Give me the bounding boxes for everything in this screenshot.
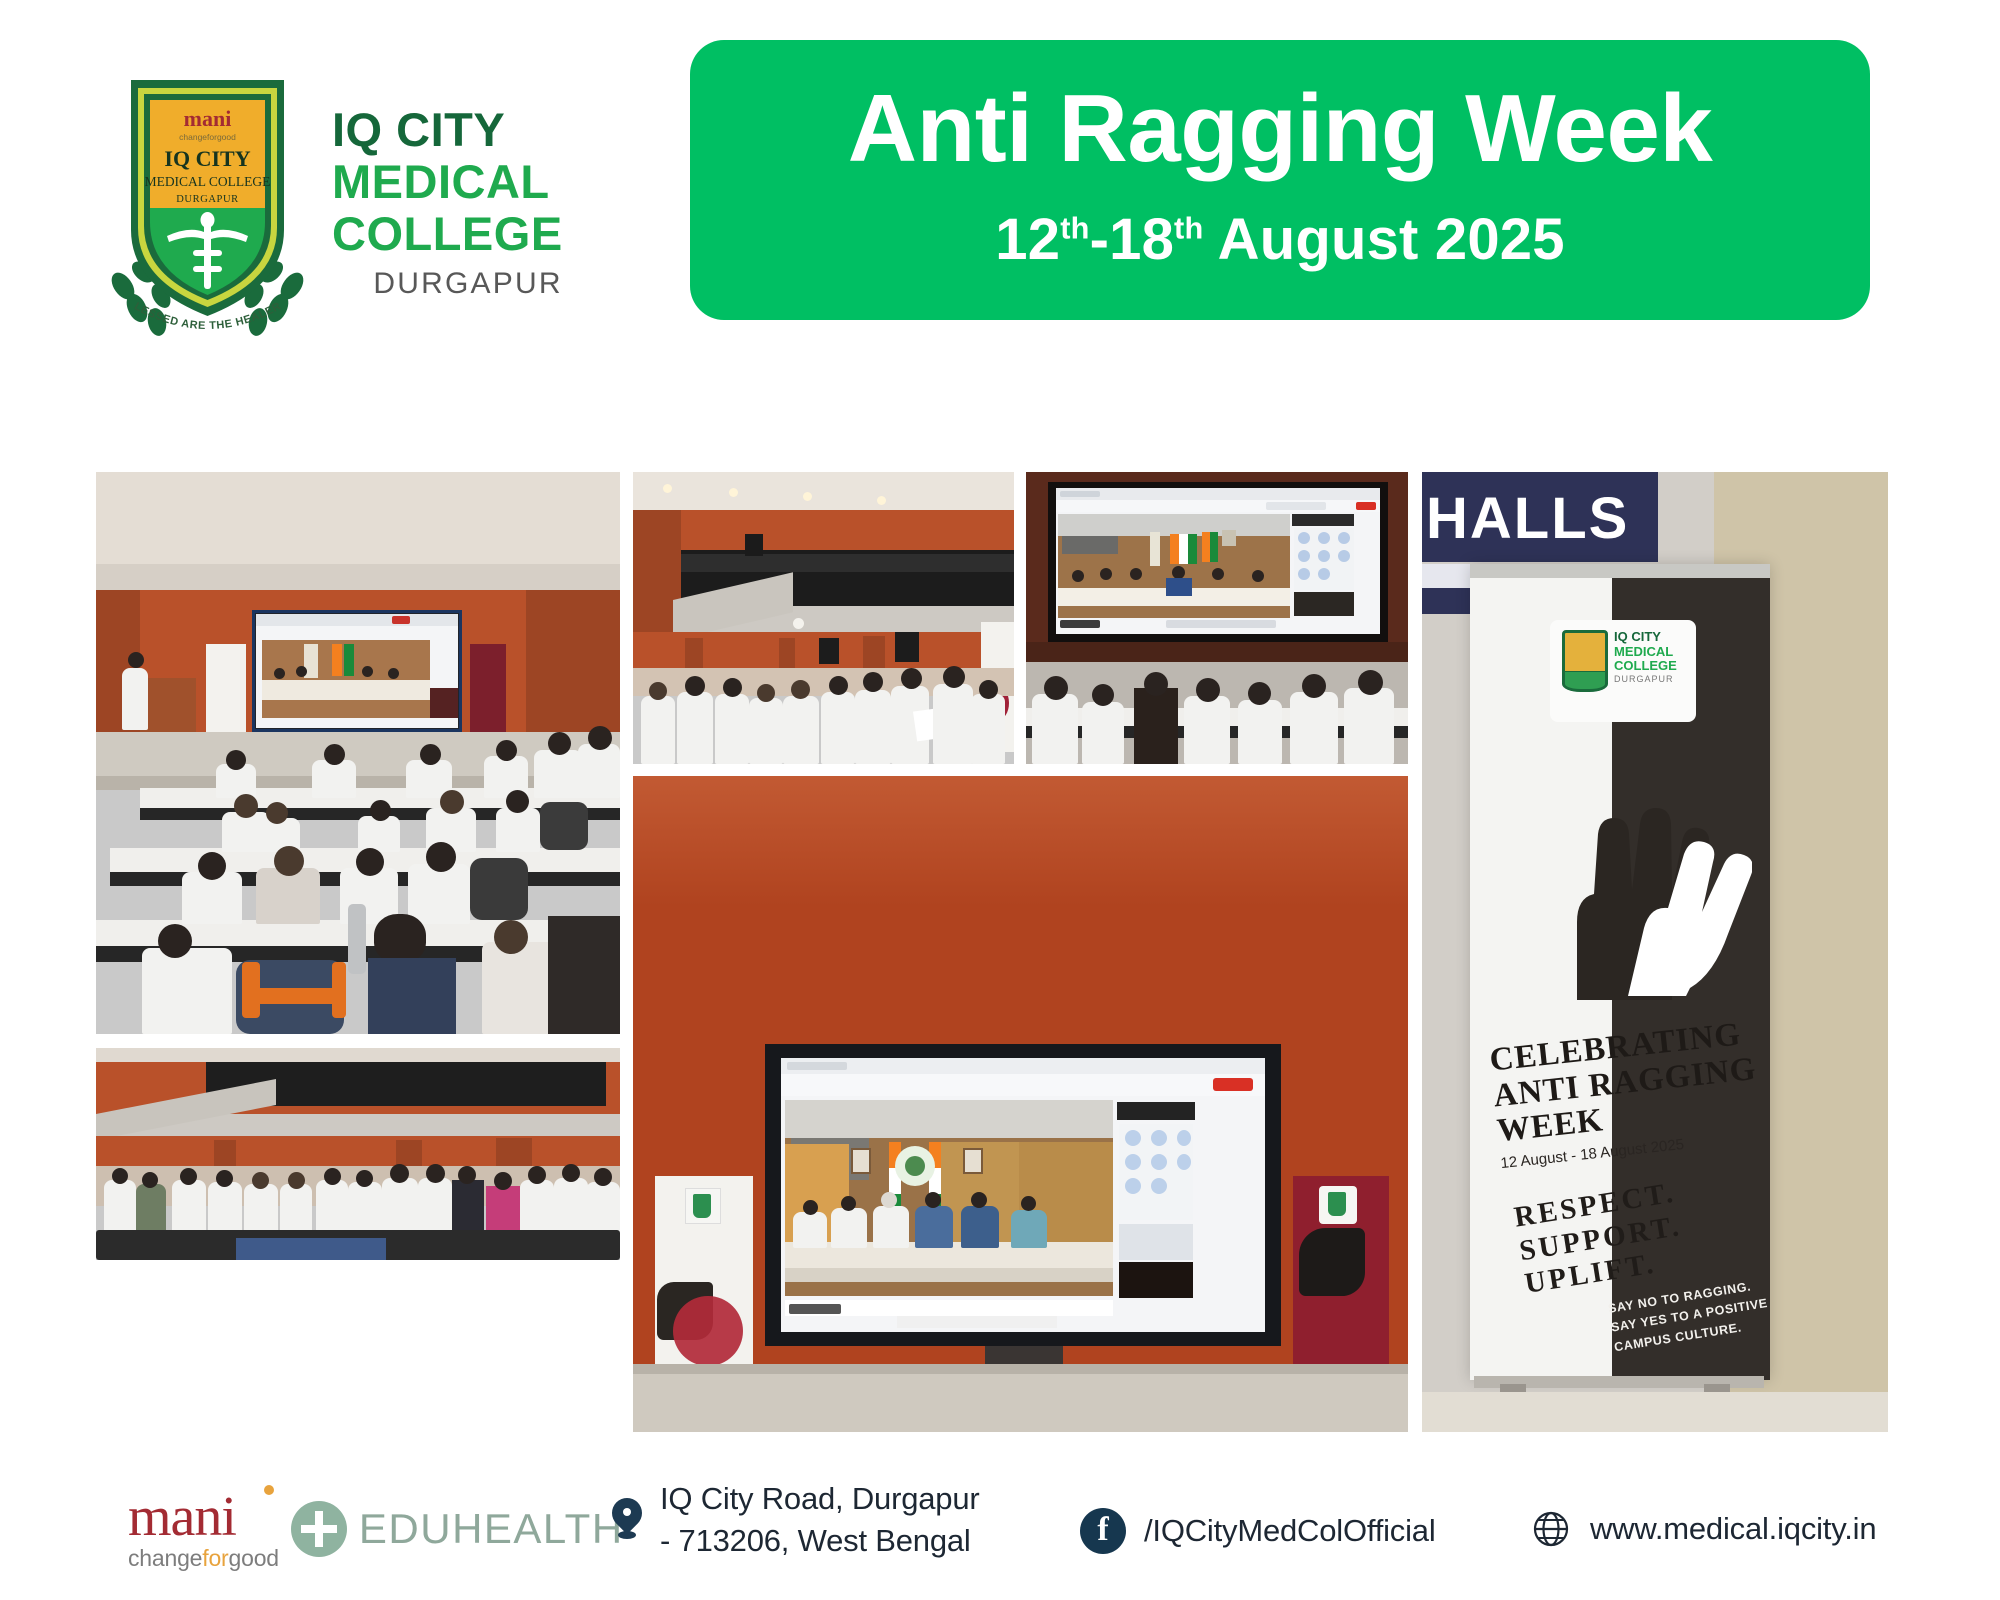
photo-auditorium-faculty xyxy=(633,472,1014,764)
event-dates: 12th-18th August 2025 xyxy=(995,206,1564,273)
mani-dot-accent xyxy=(264,1485,274,1495)
facebook-handle[interactable]: /IQCityMedColOfficial xyxy=(1144,1510,1436,1552)
mani-tagline-part3: good xyxy=(229,1545,279,1571)
medical-cross-icon xyxy=(291,1501,347,1557)
wordmark-line-4: DURGAPUR xyxy=(332,269,563,299)
photo-main-screen-wide xyxy=(633,776,1408,1432)
mani-tagline-part2: for xyxy=(202,1545,228,1571)
college-crest-logo: mani changeforgood IQ CITY MEDICAL COLLE… xyxy=(105,58,310,338)
website-url[interactable]: www.medical.iqcity.in xyxy=(1590,1508,1876,1550)
crest-mani-tagline: changeforgood xyxy=(179,132,236,142)
photo-standee-banner: HALLS IQ CITY MEDICAL COLLEGE DURGAPUR C… xyxy=(1422,472,1888,1432)
photo-screen-closeup xyxy=(1026,472,1408,764)
event-date-end: -18 xyxy=(1090,207,1174,272)
crest-line2: MEDICAL COLLEGE xyxy=(145,174,271,189)
event-date-start: 12 xyxy=(995,207,1060,272)
mani-wordmark: mani xyxy=(128,1489,279,1545)
college-wordmark: IQ CITY MEDICAL COLLEGE DURGAPUR xyxy=(332,58,563,299)
photo-collage: HALLS IQ CITY MEDICAL COLLEGE DURGAPUR C… xyxy=(96,472,1888,1432)
wordmark-line-3: COLLEGE xyxy=(332,210,563,257)
photo-lecture-hall-audience xyxy=(96,472,620,1034)
footer-facebook[interactable]: f /IQCityMedColOfficial xyxy=(1080,1508,1436,1554)
facebook-icon[interactable]: f xyxy=(1080,1508,1126,1554)
brand-block: mani changeforgood IQ CITY MEDICAL COLLE… xyxy=(105,58,665,388)
event-date-start-suffix: th xyxy=(1060,211,1089,246)
wordmark-line-2: MEDICAL xyxy=(332,158,563,205)
event-title: Anti Ragging Week xyxy=(848,79,1712,180)
address-line-2: - 713206, West Bengal xyxy=(660,1520,980,1562)
standee-logo-line2: MEDICAL xyxy=(1614,645,1694,660)
mani-eduhealth-logo: mani changeforgood EDUHEALTH xyxy=(128,1484,548,1574)
page-header: mani changeforgood IQ CITY MEDICAL COLLE… xyxy=(0,0,2000,415)
event-title-banner: Anti Ragging Week 12th-18th August 2025 xyxy=(690,40,1870,320)
location-pin-icon xyxy=(612,1498,642,1542)
footer-website[interactable]: www.medical.iqcity.in xyxy=(1530,1508,1876,1550)
crest-mani-word: mani xyxy=(184,106,232,131)
standee-logo-line3: COLLEGE xyxy=(1614,659,1694,674)
crest-line1: IQ CITY xyxy=(164,146,250,171)
wordmark-line-1: IQ CITY xyxy=(332,106,563,153)
standee-logo-line4: DURGAPUR xyxy=(1614,674,1694,684)
facebook-glyph: f xyxy=(1080,1508,1126,1554)
event-date-month-year: August 2025 xyxy=(1203,207,1564,272)
standee-logo-line1: IQ CITY xyxy=(1614,630,1694,645)
address-line-1: IQ City Road, Durgapur xyxy=(660,1478,980,1520)
wall-sign-halls: HALLS xyxy=(1422,478,1658,558)
mani-word-text: mani xyxy=(128,1486,236,1548)
mani-tagline: changeforgood xyxy=(128,1547,279,1570)
address-text: IQ City Road, Durgapur - 713206, West Be… xyxy=(660,1478,980,1562)
helping-hands-icon xyxy=(1522,772,1752,1002)
event-date-end-suffix: th xyxy=(1174,211,1203,246)
photo-faculty-standing-left xyxy=(96,1048,620,1260)
eduhealth-label: EDUHEALTH xyxy=(359,1505,624,1553)
globe-icon[interactable] xyxy=(1530,1508,1572,1550)
mani-tagline-part1: change xyxy=(128,1545,202,1571)
mani-brand: mani changeforgood xyxy=(128,1489,279,1570)
crest-line3: DURGAPUR xyxy=(176,194,239,205)
footer-address: IQ City Road, Durgapur - 713206, West Be… xyxy=(612,1478,980,1562)
